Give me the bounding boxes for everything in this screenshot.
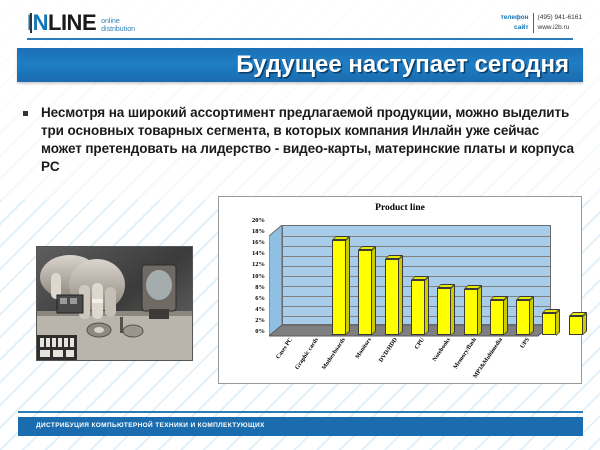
chart-bars xyxy=(332,225,598,335)
chart-bar xyxy=(332,240,346,335)
chart-y-tick-label: 20% xyxy=(252,218,265,225)
chart-bar-face xyxy=(542,313,556,336)
chart-bar-face xyxy=(358,250,372,335)
chart-bar xyxy=(358,250,372,335)
chart-x-tick-label: Motherboards xyxy=(321,337,347,371)
chart-bar-face xyxy=(437,288,451,336)
chart-y-tick-label: 12% xyxy=(252,262,265,269)
chart-bar xyxy=(490,300,504,335)
chart-bar xyxy=(569,316,583,335)
chart-y-tick-label: 8% xyxy=(255,285,265,292)
chart-x-axis: Cases PCGraphic cardsMotherboardsMonitor… xyxy=(269,337,569,381)
chart-y-tick-label: 2% xyxy=(255,318,265,325)
chart-y-axis: 20%18%16%14%12%10%8%6%4%2%0% xyxy=(219,221,267,343)
bullet-text: Несмотря на широкий ассортимент предлага… xyxy=(41,104,579,176)
footer-rule xyxy=(18,411,583,413)
page-title: Будущее наступает сегодня xyxy=(236,51,569,79)
chart-bar-face xyxy=(411,280,425,335)
chart-title: Product line xyxy=(219,203,581,213)
slide-footer: ДИСТРИБУЦИЯ КОМПЬЮТЕРНОЙ ТЕХНИКИ И КОМПЛ… xyxy=(18,417,583,436)
chart-bar-face xyxy=(569,316,583,335)
chart-x-tick-label: Memory/flash xyxy=(453,337,478,370)
logo-tagline: online distribution xyxy=(101,18,135,33)
chart-y-tick-label: 18% xyxy=(252,229,265,236)
contact-info: телефон сайт (495) 941-6161 www.i2b.ru xyxy=(501,13,582,33)
chart-bar-face xyxy=(385,259,399,335)
contact-phone-number: (495) 941-6161 xyxy=(538,13,582,23)
chart-y-tick-label: 10% xyxy=(252,274,265,281)
slide-title-band: Будущее наступает сегодня xyxy=(17,48,583,82)
chart-y-tick-label: 4% xyxy=(255,307,265,314)
header-rule xyxy=(27,38,573,40)
chart-x-tick-label: CPU xyxy=(414,337,426,351)
logo-tagline-line1: online xyxy=(101,18,135,25)
chart-x-tick-label: UPS xyxy=(519,337,530,350)
chart-bar-side xyxy=(478,285,482,336)
contact-website[interactable]: www.i2b.ru xyxy=(538,23,582,33)
contact-label-phone: телефон xyxy=(501,13,529,23)
chart-bar xyxy=(437,288,451,336)
logo-text-line: LINE xyxy=(48,12,96,34)
chart-bar xyxy=(542,313,556,336)
chart-bar xyxy=(385,259,399,335)
chart-x-tick-label: Monitors xyxy=(355,337,373,360)
chart-bar-face xyxy=(490,300,504,335)
chart-y-tick-label: 6% xyxy=(255,296,265,303)
chart-bar-side xyxy=(372,246,376,335)
chart-x-tick-label: Notebooks xyxy=(432,337,452,363)
chart-y-tick-label: 0% xyxy=(255,329,265,336)
chart-bar-side xyxy=(530,296,534,335)
chart-bar-side xyxy=(346,236,350,335)
chart-y-tick-label: 14% xyxy=(252,251,265,258)
chart-x-tick-label: Cases PC xyxy=(275,337,293,360)
chart-bar-side xyxy=(425,276,429,335)
contact-values: (495) 941-6161 www.i2b.ru xyxy=(534,13,582,33)
chart-bar xyxy=(516,300,530,335)
bullet-item: Несмотря на широкий ассортимент предлага… xyxy=(23,104,579,176)
chart-container: Product line 20%18%16%14%12%10%8%6%4%2%0… xyxy=(218,196,582,384)
chart-bar-side xyxy=(504,296,508,335)
slide-header: IN LINE online distribution телефон сайт… xyxy=(0,0,600,42)
chart-y-tick-label: 16% xyxy=(252,240,265,247)
chart-bar-side xyxy=(399,255,403,335)
chart-bar-face xyxy=(516,300,530,335)
company-logo: IN LINE online distribution xyxy=(27,12,135,34)
chart-bar-side xyxy=(556,309,560,336)
chart-bar-face xyxy=(464,289,478,336)
contact-label-site: сайт xyxy=(501,23,529,33)
footer-text: ДИСТРИБУЦИЯ КОМПЬЮТЕРНОЙ ТЕХНИКИ И КОМПЛ… xyxy=(36,422,265,429)
bullet-marker-icon xyxy=(23,111,28,116)
chart-x-tick-label: MP3&Multimedia xyxy=(473,337,504,380)
chart-side-wall xyxy=(269,225,283,335)
logo-divider xyxy=(30,13,32,33)
chart-x-tick-label: DVD/HDD xyxy=(379,337,400,364)
chart-bar xyxy=(464,289,478,336)
contact-labels: телефон сайт xyxy=(501,13,533,33)
photo-graphic xyxy=(37,247,192,360)
chart-bar-side xyxy=(451,284,455,336)
assembly-photo xyxy=(36,246,193,361)
chart-bar-face xyxy=(332,240,346,335)
logo-tagline-line2: distribution xyxy=(101,26,135,33)
chart-x-tick-label: Graphic cards xyxy=(295,337,321,371)
chart-bar xyxy=(411,280,425,335)
chart-plot-area xyxy=(269,225,551,335)
